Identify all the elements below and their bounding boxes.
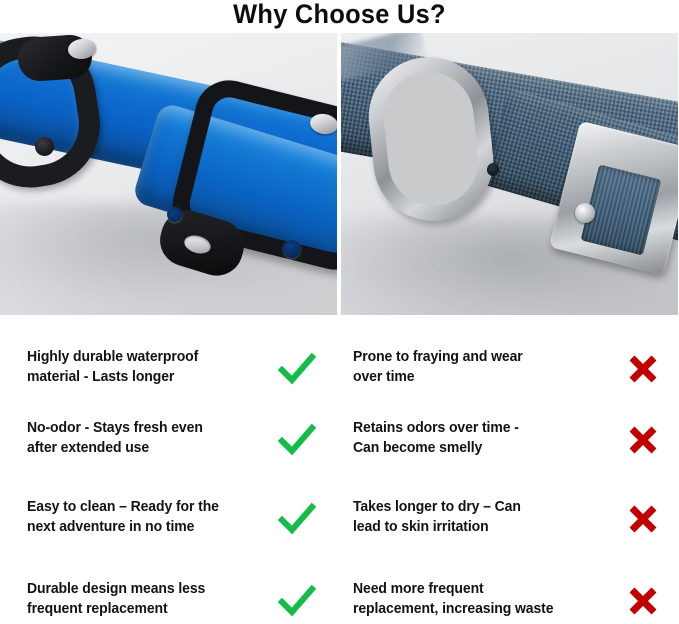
table-row: Highly durable waterproof material - Las…: [0, 337, 679, 408]
pro-text: No-odor - Stays fresh even after extende…: [27, 419, 267, 459]
cross-icon: [623, 349, 663, 389]
con-cell: Takes longer to dry – Can lead to skin i…: [340, 487, 679, 558]
hardware-screw: [35, 137, 54, 156]
pro-text: Highly durable waterproof material - Las…: [27, 348, 267, 388]
fabric-collar-photo: [341, 33, 678, 315]
pro-text: Easy to clean – Ready for the next adven…: [27, 498, 267, 538]
con-text: Need more frequent replacement, increasi…: [353, 580, 588, 620]
photo-strip: [0, 33, 679, 315]
strap-hole: [167, 207, 182, 222]
page-title: Why Choose Us?: [20, 0, 658, 31]
check-icon: [277, 349, 317, 389]
con-text: Retains odors over time - Can become sme…: [353, 419, 588, 459]
comparison-infographic: Why Choose Us?: [0, 0, 679, 624]
pro-text: Durable design means less frequent repla…: [27, 580, 267, 620]
check-icon: [277, 499, 317, 539]
pro-cell: No-odor - Stays fresh even after extende…: [0, 408, 340, 479]
table-row: Durable design means less frequent repla…: [0, 569, 679, 624]
check-icon: [277, 420, 317, 460]
table-row: Easy to clean – Ready for the next adven…: [0, 487, 679, 569]
con-cell: Retains odors over time - Can become sme…: [340, 408, 679, 479]
con-text: Takes longer to dry – Can lead to skin i…: [353, 498, 588, 538]
pro-cell: Durable design means less frequent repla…: [0, 569, 340, 624]
strap-hole: [283, 240, 301, 258]
con-cell: Prone to fraying and wear over time: [340, 337, 679, 408]
waterproof-collar-photo: [0, 33, 337, 315]
cross-icon: [623, 420, 663, 460]
buckle-prong: [575, 203, 595, 223]
table-row: No-odor - Stays fresh even after extende…: [0, 408, 679, 487]
comparison-table: Highly durable waterproof material - Las…: [0, 337, 679, 624]
pro-cell: Highly durable waterproof material - Las…: [0, 337, 340, 408]
cross-icon: [623, 499, 663, 539]
cross-icon: [623, 581, 663, 621]
pro-cell: Easy to clean – Ready for the next adven…: [0, 487, 340, 558]
con-text: Prone to fraying and wear over time: [353, 348, 588, 388]
check-icon: [277, 581, 317, 621]
con-cell: Need more frequent replacement, increasi…: [340, 569, 679, 624]
